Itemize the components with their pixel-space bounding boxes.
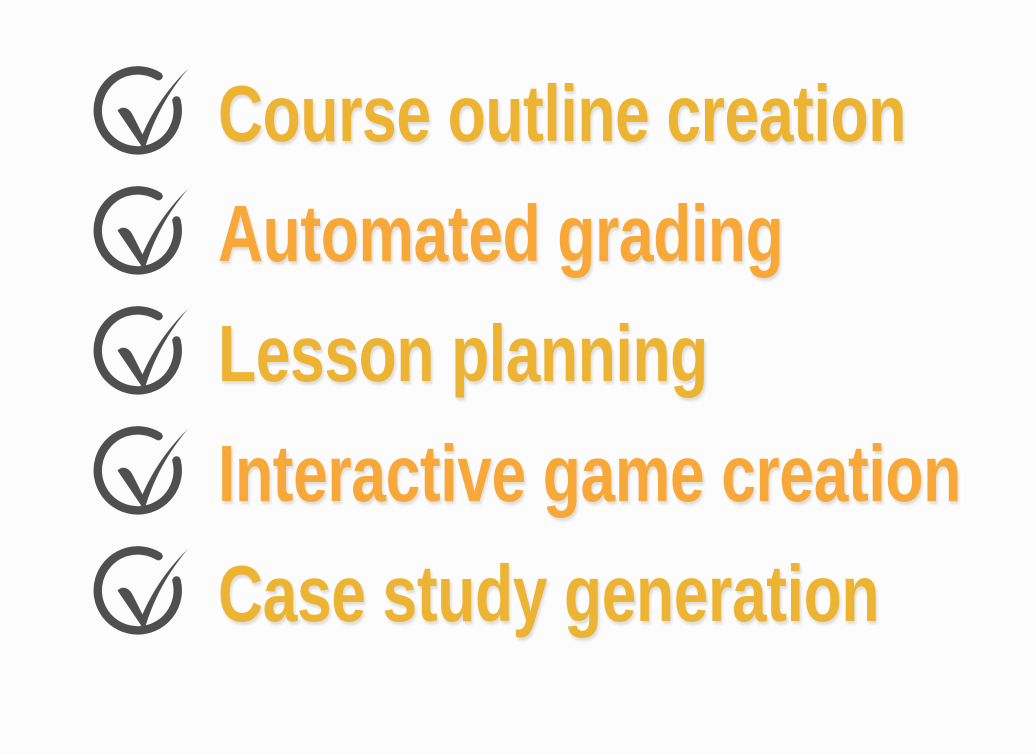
slide-canvas: Course outline creation Automated gradin…	[0, 0, 1036, 754]
circled-checkmark-icon	[96, 62, 192, 164]
list-item-label: Interactive game creation	[218, 436, 961, 512]
list-item-label: Course outline creation	[218, 76, 906, 152]
circled-checkmark-icon	[96, 182, 192, 284]
circled-checkmark-icon	[96, 302, 192, 404]
list-item-label: Lesson planning	[218, 316, 708, 392]
list-item[interactable]: Automated grading	[0, 175, 1036, 295]
circled-checkmark-icon	[96, 542, 192, 644]
feature-checklist: Course outline creation Automated gradin…	[0, 55, 1036, 655]
list-item[interactable]: Lesson planning	[0, 295, 1036, 415]
list-item[interactable]: Interactive game creation	[0, 415, 1036, 535]
list-item[interactable]: Course outline creation	[0, 55, 1036, 175]
list-item[interactable]: Case study generation	[0, 535, 1036, 655]
circled-checkmark-icon	[96, 422, 192, 524]
list-item-label: Case study generation	[218, 556, 879, 632]
list-item-label: Automated grading	[218, 196, 783, 272]
